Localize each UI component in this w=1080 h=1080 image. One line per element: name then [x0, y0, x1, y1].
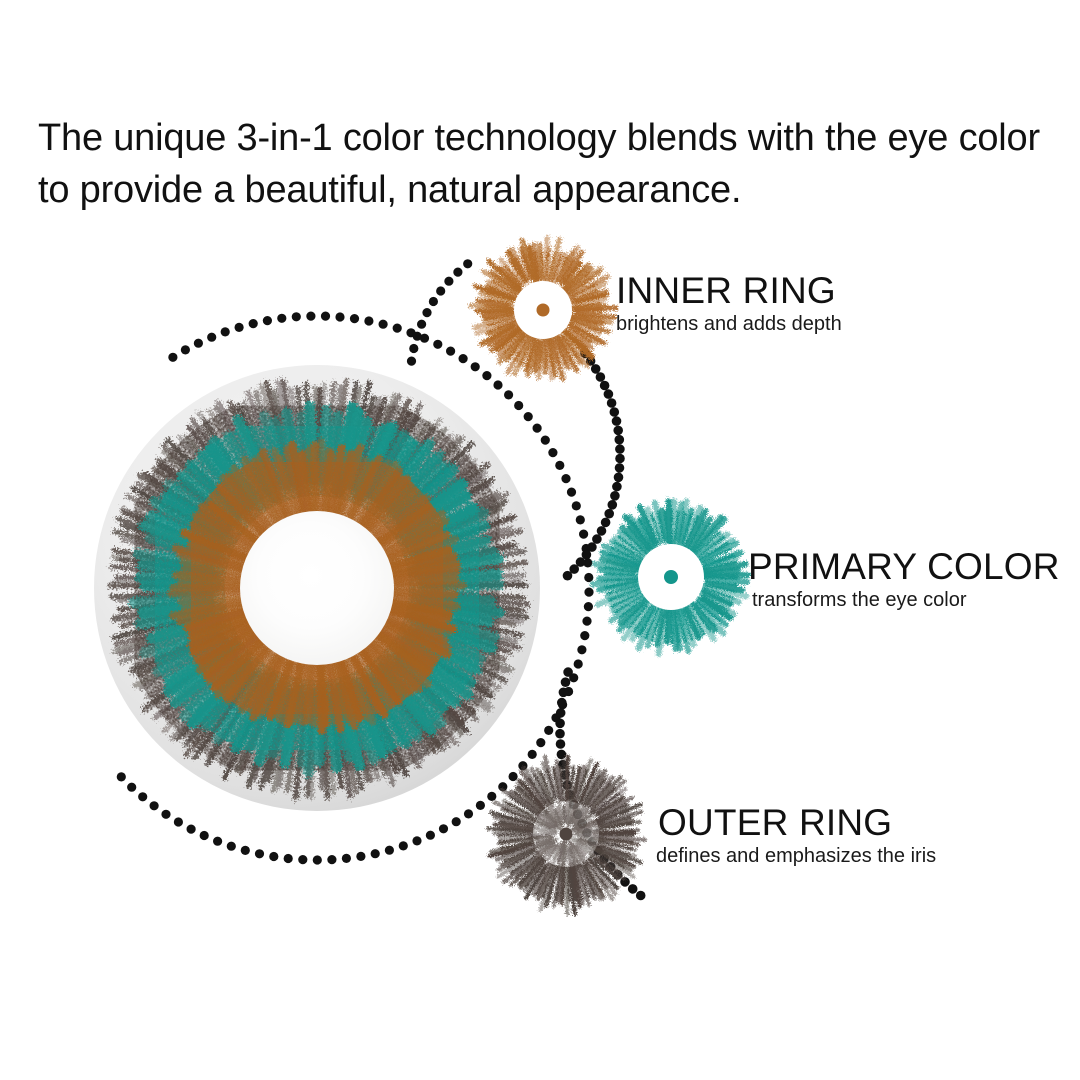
callout-outer-ring-subtitle: defines and emphasizes the iris — [656, 845, 936, 868]
infographic-canvas: The unique 3-in-1 color technology blend… — [0, 0, 1080, 1080]
callout-inner-ring-title: INNER RING — [616, 272, 842, 309]
callout-primary-color: PRIMARY COLOR transforms the eye color — [748, 548, 1060, 612]
main-lens — [94, 365, 540, 811]
lens-illustration — [0, 0, 1080, 1080]
outer-ring-center-dot — [560, 828, 573, 841]
callout-outer-ring: OUTER RING defines and emphasizes the ir… — [658, 804, 936, 868]
inner-ring-swatch — [471, 238, 616, 379]
callout-inner-ring: INNER RING brightens and adds depth — [616, 272, 842, 336]
lens-pupil — [240, 511, 394, 665]
connector-arc-inner — [407, 259, 472, 366]
callout-outer-ring-title: OUTER RING — [658, 804, 936, 841]
primary-color-center-dot — [664, 570, 678, 584]
callout-primary-color-title: PRIMARY COLOR — [748, 548, 1060, 585]
primary-color-swatch — [593, 501, 748, 654]
callout-inner-ring-subtitle: brightens and adds depth — [616, 313, 842, 336]
callout-primary-color-subtitle: transforms the eye color — [752, 589, 1060, 612]
inner-ring-center-dot — [537, 304, 550, 317]
